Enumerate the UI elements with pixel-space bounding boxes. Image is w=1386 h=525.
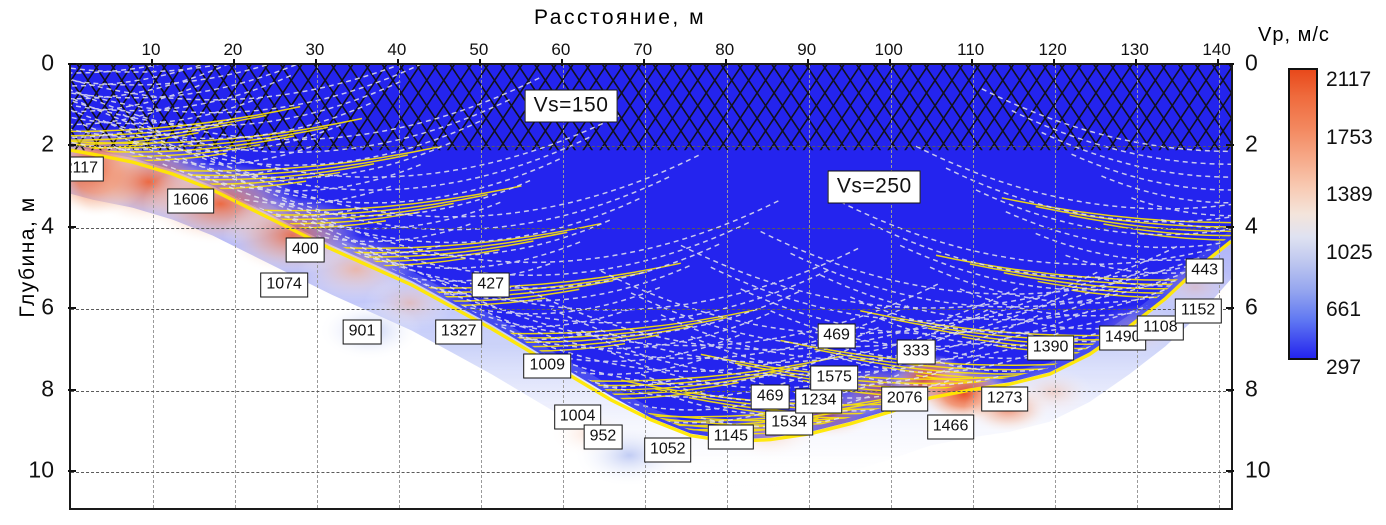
- y-axis-tick-mark: [1226, 63, 1234, 65]
- velocity-value-label: 443: [1185, 258, 1224, 283]
- gridline-horizontal: [71, 472, 1231, 473]
- velocity-value-label: 469: [817, 323, 856, 348]
- x-axis-tick-label: 100: [875, 40, 903, 60]
- y-axis-tick-mark: [1226, 470, 1234, 472]
- y-axis-tick-mark: [68, 470, 76, 472]
- y-axis-tick-label: 10: [1245, 457, 1271, 484]
- y-axis-tick-mark: [68, 226, 76, 228]
- x-axis-title: Расстояние, м: [0, 6, 1240, 30]
- x-axis-tick-label: 130: [1120, 40, 1148, 60]
- y-axis-tick-label: 8: [1245, 375, 1258, 402]
- x-axis-tick-mark: [479, 59, 481, 66]
- x-axis-tick-mark: [397, 59, 399, 66]
- x-axis-tick-label: 40: [387, 40, 406, 60]
- y-axis-tick-label: 10: [22, 457, 54, 484]
- tomogram-plot-area: 2117160640010749011327427100910049521052…: [69, 63, 1233, 510]
- y-axis-tick-label: 8: [22, 375, 54, 402]
- colorbar-tick-label: 1025: [1326, 241, 1373, 265]
- y-axis-tick-label: 2: [22, 131, 54, 158]
- y-axis-tick-mark: [68, 63, 76, 65]
- y-axis-tick-label: 4: [1245, 212, 1258, 239]
- x-axis-tick-label: 120: [1038, 40, 1066, 60]
- gridline-vertical: [153, 65, 154, 508]
- velocity-value-label: 952: [584, 425, 623, 450]
- gridline-vertical: [891, 65, 892, 508]
- gridline-vertical: [235, 65, 236, 508]
- velocity-value-label: 1152: [1175, 299, 1221, 324]
- velocity-value-label: 427: [471, 272, 510, 297]
- velocity-value-label: 1606: [167, 189, 215, 214]
- x-axis-tick-label: 110: [957, 40, 984, 60]
- x-axis-tick-label: 50: [469, 40, 488, 60]
- y-axis-tick-label: 2: [1245, 131, 1258, 158]
- velocity-value-label: 1466: [927, 415, 975, 440]
- x-axis-tick-mark: [1217, 59, 1219, 66]
- colorbar-title: Vp, м/с: [1258, 24, 1330, 47]
- gridline-vertical: [563, 65, 564, 508]
- gridline-horizontal: [71, 146, 1231, 147]
- layer-annotation-label: Vs=250: [828, 171, 921, 204]
- seismic-tomography-figure: Расстояние, м Глубина, м Vp, м/с: [0, 0, 1386, 525]
- velocity-value-label: 1390: [1027, 335, 1075, 360]
- velocity-value-label: 901: [343, 319, 382, 344]
- colorbar-tick-label: 661: [1326, 298, 1361, 322]
- velocity-value-label: 333: [897, 339, 936, 364]
- velocity-value-label: 1575: [810, 366, 858, 391]
- x-axis-tick-mark: [725, 59, 727, 66]
- colorbar-tick-label: 1753: [1326, 126, 1373, 150]
- gridline-vertical: [1137, 65, 1138, 508]
- y-axis-tick-mark: [1226, 144, 1234, 146]
- y-axis-tick-label: 0: [22, 50, 54, 77]
- x-axis-tick-label: 70: [633, 40, 652, 60]
- y-axis-tick-mark: [68, 389, 76, 391]
- gridline-horizontal: [71, 309, 1231, 310]
- x-axis-tick-mark: [233, 59, 235, 66]
- colorbar-tick-label: 2117: [1326, 68, 1371, 92]
- x-axis-tick-mark: [807, 59, 809, 66]
- velocity-value-label: 1052: [644, 437, 692, 462]
- gridline-vertical: [1219, 65, 1220, 508]
- y-axis-title: Глубина, м: [16, 137, 40, 377]
- x-axis-tick-mark: [315, 59, 317, 66]
- velocity-value-label: 469: [751, 384, 790, 409]
- velocity-value-label: 1145: [708, 425, 754, 450]
- y-axis-tick-label: 0: [1245, 50, 1258, 77]
- x-axis-tick-mark: [1135, 59, 1137, 66]
- x-axis-tick-mark: [971, 59, 973, 66]
- colorbar-tick-label: 1389: [1326, 183, 1373, 207]
- colorbar: [1288, 68, 1318, 360]
- x-axis-tick-mark: [561, 59, 563, 66]
- velocity-value-label: 1009: [523, 354, 571, 379]
- x-axis-tick-label: 80: [715, 40, 734, 60]
- y-axis-tick-mark: [1226, 226, 1234, 228]
- x-axis-tick-mark: [643, 59, 645, 66]
- velocity-value-label: 1273: [981, 386, 1029, 411]
- velocity-value-label: 1327: [435, 319, 483, 344]
- y-axis-tick-label: 6: [22, 294, 54, 321]
- velocity-value-label: 1534: [765, 411, 813, 436]
- y-axis-tick-label: 4: [22, 212, 54, 239]
- gridline-vertical: [973, 65, 974, 508]
- gridline-vertical: [399, 65, 400, 508]
- x-axis-tick-mark: [151, 59, 153, 66]
- velocity-value-label: 1234: [795, 388, 843, 413]
- gridline-horizontal: [71, 391, 1231, 392]
- x-axis-tick-mark: [1053, 59, 1055, 66]
- gridline-vertical: [809, 65, 810, 508]
- x-axis-tick-label: 140: [1202, 40, 1230, 60]
- gridline-vertical: [1055, 65, 1056, 508]
- velocity-value-label: 400: [286, 238, 325, 263]
- x-axis-tick-label: 10: [142, 40, 161, 60]
- x-axis-tick-label: 90: [797, 40, 816, 60]
- y-axis-tick-mark: [68, 144, 76, 146]
- velocity-value-label: 2117: [69, 156, 104, 181]
- y-axis-tick-mark: [68, 307, 76, 309]
- x-axis-tick-label: 20: [223, 40, 242, 60]
- gridline-vertical: [317, 65, 318, 508]
- velocity-value-label: 1074: [260, 272, 308, 297]
- y-axis-tick-label: 6: [1245, 294, 1258, 321]
- y-axis-tick-mark: [1226, 307, 1234, 309]
- gridline-horizontal: [71, 228, 1231, 229]
- velocity-value-label: 2076: [881, 386, 929, 411]
- x-axis-tick-mark: [889, 59, 891, 66]
- y-axis-tick-mark: [1226, 389, 1234, 391]
- layer-annotation-label: Vs=150: [525, 89, 618, 122]
- x-axis-tick-label: 30: [305, 40, 324, 60]
- colorbar-tick-label: 297: [1326, 356, 1361, 380]
- x-axis-tick-label: 60: [551, 40, 570, 60]
